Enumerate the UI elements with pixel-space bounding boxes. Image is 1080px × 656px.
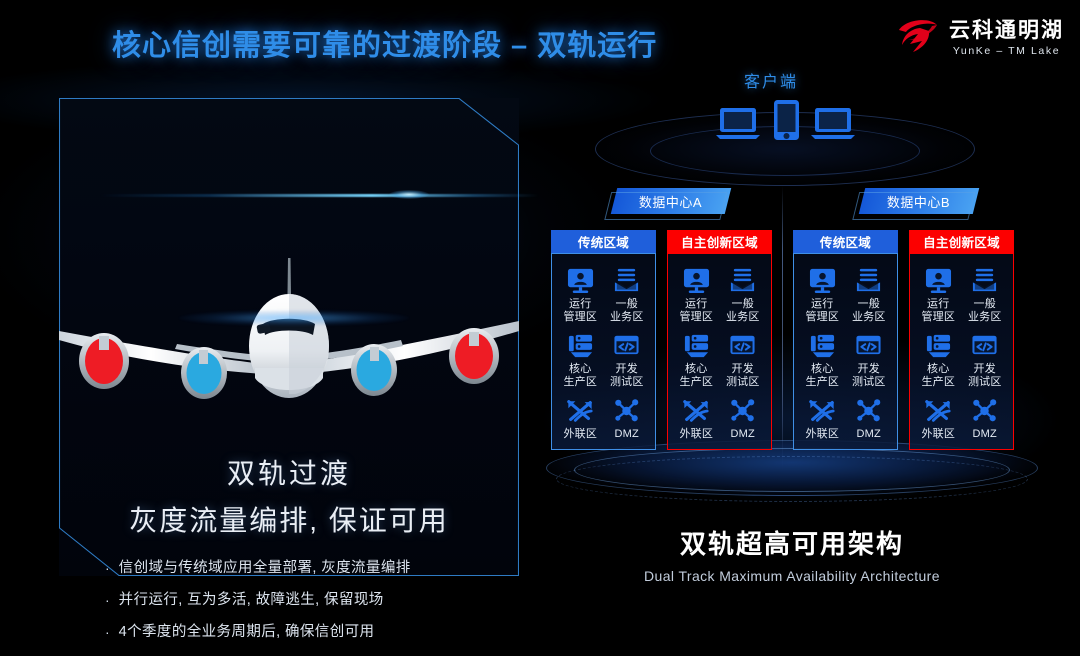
code-window-icon (613, 330, 640, 359)
bullet-text: 4个季度的全业务周期后, 确保信创可用 (119, 624, 375, 641)
laptop-icon (811, 108, 855, 139)
zone-item-label-line2: 业务区 (726, 311, 760, 324)
crossing-arrows-icon (682, 395, 710, 424)
datacenter-banner-b: 数据中心B (859, 188, 979, 214)
left-heading-line1: 双轨过渡 (59, 452, 519, 492)
zone-item[interactable]: DMZ (963, 395, 1008, 441)
architecture-stage (546, 440, 1038, 506)
zone-item-label-line1: 一般 (610, 298, 644, 311)
brand-logo: 云科通明湖 YunKe – TM Lake (896, 18, 1064, 58)
stage-ellipse-inner (574, 448, 1010, 492)
bullet-text: 信创域与传统域应用全量部署, 灰度流量编排 (119, 560, 411, 577)
crossing-arrows-icon (924, 395, 952, 424)
zone-item[interactable]: 开发测试区 (721, 330, 766, 388)
panel-glow-highlight (389, 190, 429, 199)
zone-body: 运行管理区 一般业务区 核心生产区 开发测试区 外联区 (909, 253, 1014, 450)
zone-item-label-line1: 核心 (679, 363, 713, 376)
zone-item-label-line2: 生产区 (563, 376, 597, 389)
zone-item[interactable]: 核心生产区 (800, 330, 845, 388)
zone-header: 传统区域 (551, 230, 656, 253)
bullet-marker: · (105, 592, 110, 609)
architecture-title-cn: 双轨超高可用架构 (546, 524, 1038, 561)
zone-item[interactable]: 一般业务区 (847, 265, 892, 323)
bullet-text: 并行运行, 互为多活, 故障逃生, 保留现场 (119, 592, 384, 609)
zone-header: 传统区域 (793, 230, 898, 253)
zone-item[interactable]: 核心生产区 (558, 330, 603, 388)
logo-title-en: YunKe – TM Lake (953, 46, 1060, 57)
server-stack-icon (925, 330, 952, 359)
zone-body: 运行管理区 一般业务区 核心生产区 开发测试区 外联区 (793, 253, 898, 450)
zone-body: 运行管理区 一般业务区 核心生产区 开发测试区 外联区 (667, 253, 772, 450)
zone-item-label-line2: 测试区 (852, 376, 886, 389)
zone-item-label-line1: 开发 (968, 363, 1002, 376)
zone-item[interactable]: 外联区 (558, 395, 603, 441)
zone-item-label-line2: 生产区 (805, 376, 839, 389)
zone-item-label-line1: DMZ (973, 428, 997, 441)
zone-panel-innovation-b[interactable]: 自主创新区域 运行管理区 一般业务区 核心生产区 开发测试区 (909, 230, 1014, 450)
zone-item-label: 核心生产区 (805, 363, 839, 388)
zone-item-label: DMZ (615, 428, 639, 441)
zone-item-label-line1: 核心 (805, 363, 839, 376)
panel-glow-line (99, 194, 539, 197)
code-window-icon (971, 330, 998, 359)
inbox-tray-icon (729, 265, 756, 294)
user-monitor-icon (809, 265, 836, 294)
zone-item[interactable]: 外联区 (674, 395, 719, 441)
zone-item-label-line1: 核心 (921, 363, 955, 376)
zone-item[interactable]: 运行管理区 (674, 265, 719, 323)
server-stack-icon (567, 330, 594, 359)
zone-item-label: 运行管理区 (921, 298, 955, 323)
client-tier-label: 客户端 (744, 68, 798, 92)
smartphone-icon (774, 100, 799, 140)
network-nodes-icon (729, 395, 756, 424)
zone-item-label-line1: 外联区 (563, 428, 597, 441)
zone-item-label-line1: DMZ (731, 428, 755, 441)
zone-item-label-line2: 业务区 (968, 311, 1002, 324)
zone-header: 自主创新区域 (909, 230, 1014, 253)
zone-item-label-line2: 生产区 (679, 376, 713, 389)
zone-item[interactable]: DMZ (605, 395, 650, 441)
zone-item-label: 外联区 (921, 428, 955, 441)
inbox-tray-icon (855, 265, 882, 294)
zone-item[interactable]: 开发测试区 (847, 330, 892, 388)
zone-item-label-line1: DMZ (615, 428, 639, 441)
zone-item[interactable]: 运行管理区 (558, 265, 603, 323)
zone-item-label-line1: 核心 (563, 363, 597, 376)
bullet-marker: · (105, 624, 110, 641)
zone-item-label: 核心生产区 (921, 363, 955, 388)
zone-item-label-line1: 运行 (679, 298, 713, 311)
client-device-group (716, 98, 856, 146)
zone-item[interactable]: 核心生产区 (674, 330, 719, 388)
zone-item-label: DMZ (731, 428, 755, 441)
list-item: · 4个季度的全业务周期后, 确保信创可用 (105, 624, 505, 641)
zone-item-label: 核心生产区 (679, 363, 713, 388)
zone-item-label-line2: 管理区 (563, 311, 597, 324)
zone-item-label: 一般业务区 (852, 298, 886, 323)
logo-title-cn: 云科通明湖 (949, 20, 1064, 41)
zone-item-label: 运行管理区 (805, 298, 839, 323)
laptop-icon (716, 108, 760, 139)
zone-item[interactable]: 运行管理区 (916, 265, 961, 323)
zone-item-label-line1: 运行 (563, 298, 597, 311)
zone-item-label-line2: 管理区 (679, 311, 713, 324)
inbox-tray-icon (971, 265, 998, 294)
zone-item-label: 核心生产区 (563, 363, 597, 388)
zone-item-label-line1: 开发 (726, 363, 760, 376)
network-nodes-icon (855, 395, 882, 424)
architecture-title-en: Dual Track Maximum Availability Architec… (546, 568, 1038, 584)
zone-item-label: 开发测试区 (726, 363, 760, 388)
zone-item[interactable]: 核心生产区 (916, 330, 961, 388)
zone-item-label: 开发测试区 (610, 363, 644, 388)
datacenter-banner-a-label: 数据中心A (639, 192, 702, 211)
zone-item-label-line2: 测试区 (968, 376, 1002, 389)
left-heading: 双轨过渡 灰度流量编排, 保证可用 (59, 452, 519, 539)
zone-item[interactable]: 运行管理区 (800, 265, 845, 323)
zone-item[interactable]: 外联区 (916, 395, 961, 441)
crossing-arrows-icon (566, 395, 594, 424)
network-nodes-icon (613, 395, 640, 424)
datacenter-divider (782, 186, 783, 470)
zone-item-label: 一般业务区 (726, 298, 760, 323)
airliner-glow-shadow (179, 310, 409, 326)
zone-item[interactable]: 外联区 (800, 395, 845, 441)
left-heading-line2: 灰度流量编排, 保证可用 (59, 499, 519, 539)
zone-item-label-line1: 开发 (852, 363, 886, 376)
list-item: · 信创域与传统域应用全量部署, 灰度流量编排 (105, 560, 505, 577)
page-title: 核心信创需要可靠的过渡阶段 – 双轨运行 (112, 22, 657, 64)
zone-panel-traditional-b[interactable]: 传统区域 运行管理区 一般业务区 核心生产区 开发测试区 (793, 230, 898, 450)
architecture-title: 双轨超高可用架构 Dual Track Maximum Availability… (546, 524, 1038, 584)
zone-header: 自主创新区域 (667, 230, 772, 253)
server-stack-icon (809, 330, 836, 359)
user-monitor-icon (925, 265, 952, 294)
zone-panel-traditional-a[interactable]: 传统区域 运行管理区 一般业务区 核心生产区 开发测试区 (551, 230, 656, 450)
zone-item[interactable]: 开发测试区 (605, 330, 650, 388)
zone-item[interactable]: 一般业务区 (605, 265, 650, 323)
zone-item-label: 运行管理区 (679, 298, 713, 323)
zone-item-label-line1: 开发 (610, 363, 644, 376)
zone-item-label-line1: 外联区 (921, 428, 955, 441)
code-window-icon (855, 330, 882, 359)
user-monitor-icon (683, 265, 710, 294)
zone-item-label-line2: 生产区 (921, 376, 955, 389)
zone-item[interactable]: DMZ (847, 395, 892, 441)
zone-item-label: DMZ (857, 428, 881, 441)
left-feature-panel: 双轨过渡 灰度流量编排, 保证可用 · 信创域与传统域应用全量部署, 灰度流量编… (59, 98, 519, 576)
zone-item[interactable]: 一般业务区 (963, 265, 1008, 323)
zone-item-label: 运行管理区 (563, 298, 597, 323)
zone-item-label: 开发测试区 (852, 363, 886, 388)
list-item: · 并行运行, 互为多活, 故障逃生, 保留现场 (105, 592, 505, 609)
zone-item-label-line1: 一般 (726, 298, 760, 311)
zone-item[interactable]: DMZ (721, 395, 766, 441)
zone-item-label-line1: 外联区 (679, 428, 713, 441)
zone-item-label-line1: 一般 (852, 298, 886, 311)
zone-item-label-line1: 外联区 (805, 428, 839, 441)
inbox-tray-icon (613, 265, 640, 294)
bullet-marker: · (105, 560, 110, 577)
zone-item-label-line2: 测试区 (610, 376, 644, 389)
zone-item-label: 外联区 (679, 428, 713, 441)
zone-item-label-line1: 运行 (805, 298, 839, 311)
zone-item-label: 外联区 (805, 428, 839, 441)
crossing-arrows-icon (808, 395, 836, 424)
network-nodes-icon (971, 395, 998, 424)
zone-item-label-line2: 业务区 (852, 311, 886, 324)
zone-item-label-line2: 业务区 (610, 311, 644, 324)
user-monitor-icon (567, 265, 594, 294)
zone-item-label-line2: 测试区 (726, 376, 760, 389)
datacenter-banner-a: 数据中心A (611, 188, 731, 214)
datacenter-banner-b-label: 数据中心B (887, 192, 950, 211)
zone-item-label-line2: 管理区 (921, 311, 955, 324)
zone-panel-innovation-a[interactable]: 自主创新区域 运行管理区 一般业务区 核心生产区 开发测试区 (667, 230, 772, 450)
zone-item-label: DMZ (973, 428, 997, 441)
feature-bullet-list: · 信创域与传统域应用全量部署, 灰度流量编排 · 并行运行, 互为多活, 故障… (105, 560, 505, 656)
zone-item-label-line1: 一般 (968, 298, 1002, 311)
zone-body: 运行管理区 一般业务区 核心生产区 开发测试区 外联区 (551, 253, 656, 450)
zone-item-label-line1: 运行 (921, 298, 955, 311)
server-stack-icon (683, 330, 710, 359)
zone-item-label: 一般业务区 (610, 298, 644, 323)
zone-item[interactable]: 开发测试区 (963, 330, 1008, 388)
zone-item-label: 一般业务区 (968, 298, 1002, 323)
zone-item-label: 开发测试区 (968, 363, 1002, 388)
zone-item[interactable]: 一般业务区 (721, 265, 766, 323)
code-window-icon (729, 330, 756, 359)
zone-item-label-line2: 管理区 (805, 311, 839, 324)
zone-item-label-line1: DMZ (857, 428, 881, 441)
yunke-logo-mark (896, 18, 940, 58)
zone-item-label: 外联区 (563, 428, 597, 441)
